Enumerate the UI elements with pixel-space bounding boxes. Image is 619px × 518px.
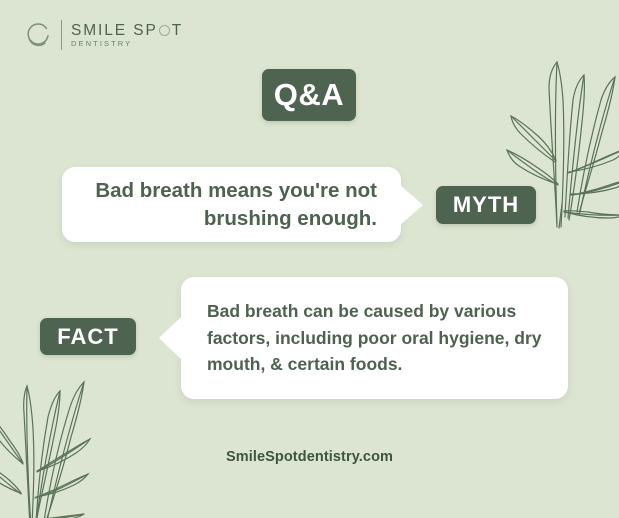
logo-name-part1: SMILE SP (71, 23, 158, 39)
logo-subtitle: DENTISTRY (71, 40, 183, 48)
circle-arc-logo-icon (24, 21, 52, 49)
brand-logo[interactable]: SMILE SPT DENTISTRY (24, 20, 183, 50)
fact-bubble-text: Bad breath can be caused by various fact… (207, 298, 542, 378)
poster-canvas: SMILE SPT DENTISTRY Q&A Bad breath means… (0, 0, 619, 518)
logo-name-part2: T (172, 23, 183, 39)
fern-leaf-bottom-left-icon (0, 353, 114, 518)
logo-divider (61, 20, 62, 50)
fact-badge: FACT (40, 318, 136, 355)
logo-o-circle-icon (159, 25, 170, 36)
website-url[interactable]: SmileSpotdentistry.com (0, 449, 619, 465)
myth-speech-bubble: Bad breath means you're not brushing eno… (62, 167, 401, 242)
logo-text-block: SMILE SPT DENTISTRY (71, 23, 183, 48)
myth-bubble-tail-icon (400, 185, 423, 225)
myth-bubble-text: Bad breath means you're not brushing eno… (86, 177, 377, 232)
logo-brand-name: SMILE SPT (71, 23, 183, 39)
fact-bubble-tail-icon (159, 316, 182, 360)
myth-badge: MYTH (436, 186, 536, 224)
fact-speech-bubble: Bad breath can be caused by various fact… (181, 277, 568, 399)
qa-badge: Q&A (262, 69, 356, 121)
